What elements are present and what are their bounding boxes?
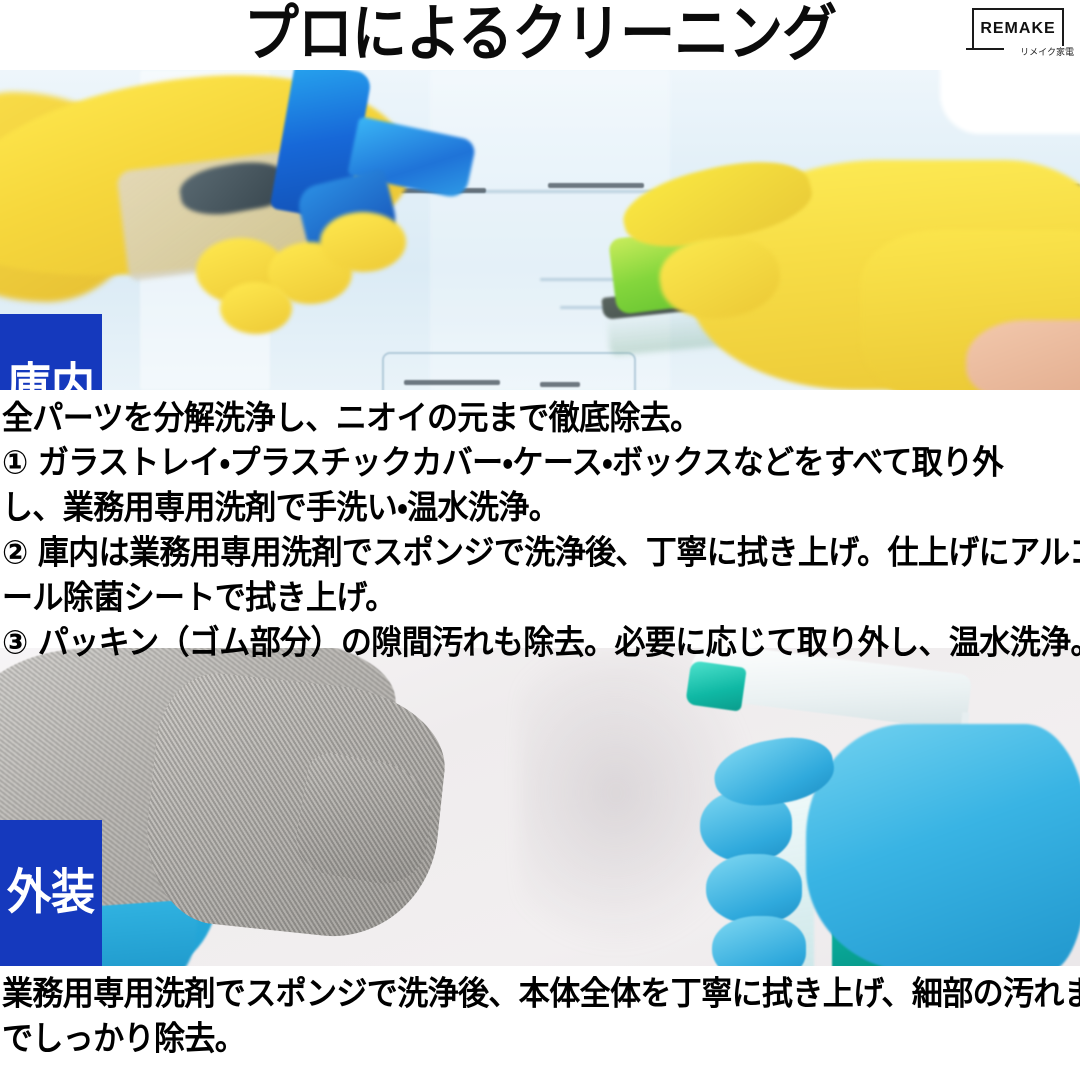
section-badge-exterior-label: 外装 xyxy=(7,867,95,920)
brand-logo: REMAKE リメイク家電 xyxy=(964,6,1068,62)
description-interior-line: ③ パッキン（ゴム部分）の隙間汚れも除去。必要に応じて取り外し、温水洗浄。 xyxy=(0,620,1080,668)
section-badge-exterior: 外装 xyxy=(0,820,102,966)
fridge-rail-marker xyxy=(548,183,644,188)
blue-glove-finger xyxy=(706,854,802,924)
description-interior-line: 全パーツを分解洗浄し、ニオイの元まで徹底除去。 xyxy=(0,388,1080,442)
photo-interior-cleaning: 庫内 xyxy=(0,70,1080,390)
yellow-glove-finger xyxy=(320,212,406,272)
blue-glove-finger xyxy=(712,916,806,966)
flyer-page: プロによるクリーニング REMAKE リメイク家電 xyxy=(0,0,1080,1080)
description-interior-line: ② 庫内は業務用専用洗剤でスポンジで洗浄後、丁寧に拭き上げ。仕上げにアルコ xyxy=(0,530,1080,578)
logo-subtitle: リメイク家電 xyxy=(1004,46,1074,60)
forearm-skin xyxy=(966,320,1080,390)
description-exterior-line: でしっかり除去。 xyxy=(0,1016,1080,1064)
photo-exterior-cleaning: 外装 xyxy=(0,648,1080,966)
description-exterior: 業務用専用洗剤でスポンジで洗浄後、本体全体を丁寧に拭き上げ、細部の汚れま でしっ… xyxy=(0,966,1080,1080)
fridge-door-edge xyxy=(940,70,1080,134)
description-interior: 全パーツを分解洗浄し、ニオイの元まで徹底除去。 ① ガラストレイ・プラスチックカ… xyxy=(0,390,1080,648)
description-exterior-line: 業務用専用洗剤でスポンジで洗浄後、本体全体を丁寧に拭き上げ、細部の汚れま xyxy=(0,964,1080,1018)
section-badge-interior-label: 庫内 xyxy=(7,361,95,390)
fridge-wire-rack xyxy=(382,352,636,390)
description-interior-line: ール除菌シートで拭き上げ。 xyxy=(0,575,1080,623)
page-header: プロによるクリーニング REMAKE リメイク家電 xyxy=(0,0,1080,70)
description-interior-line: ① ガラストレイ・プラスチックカバー・ケース・ボックスなどをすべて取り外 xyxy=(0,440,1080,488)
description-interior-line: し、業務用専用洗剤で手洗い・温水洗浄。 xyxy=(0,485,1080,533)
blue-glove-right-hand xyxy=(806,724,1080,966)
section-badge-interior: 庫内 xyxy=(0,314,102,390)
page-title: プロによるクリーニング xyxy=(0,0,1080,72)
logo-wordmark: REMAKE xyxy=(972,8,1064,50)
spray-bottle-nozzle-tip xyxy=(685,660,747,711)
yellow-glove-finger xyxy=(220,282,292,334)
